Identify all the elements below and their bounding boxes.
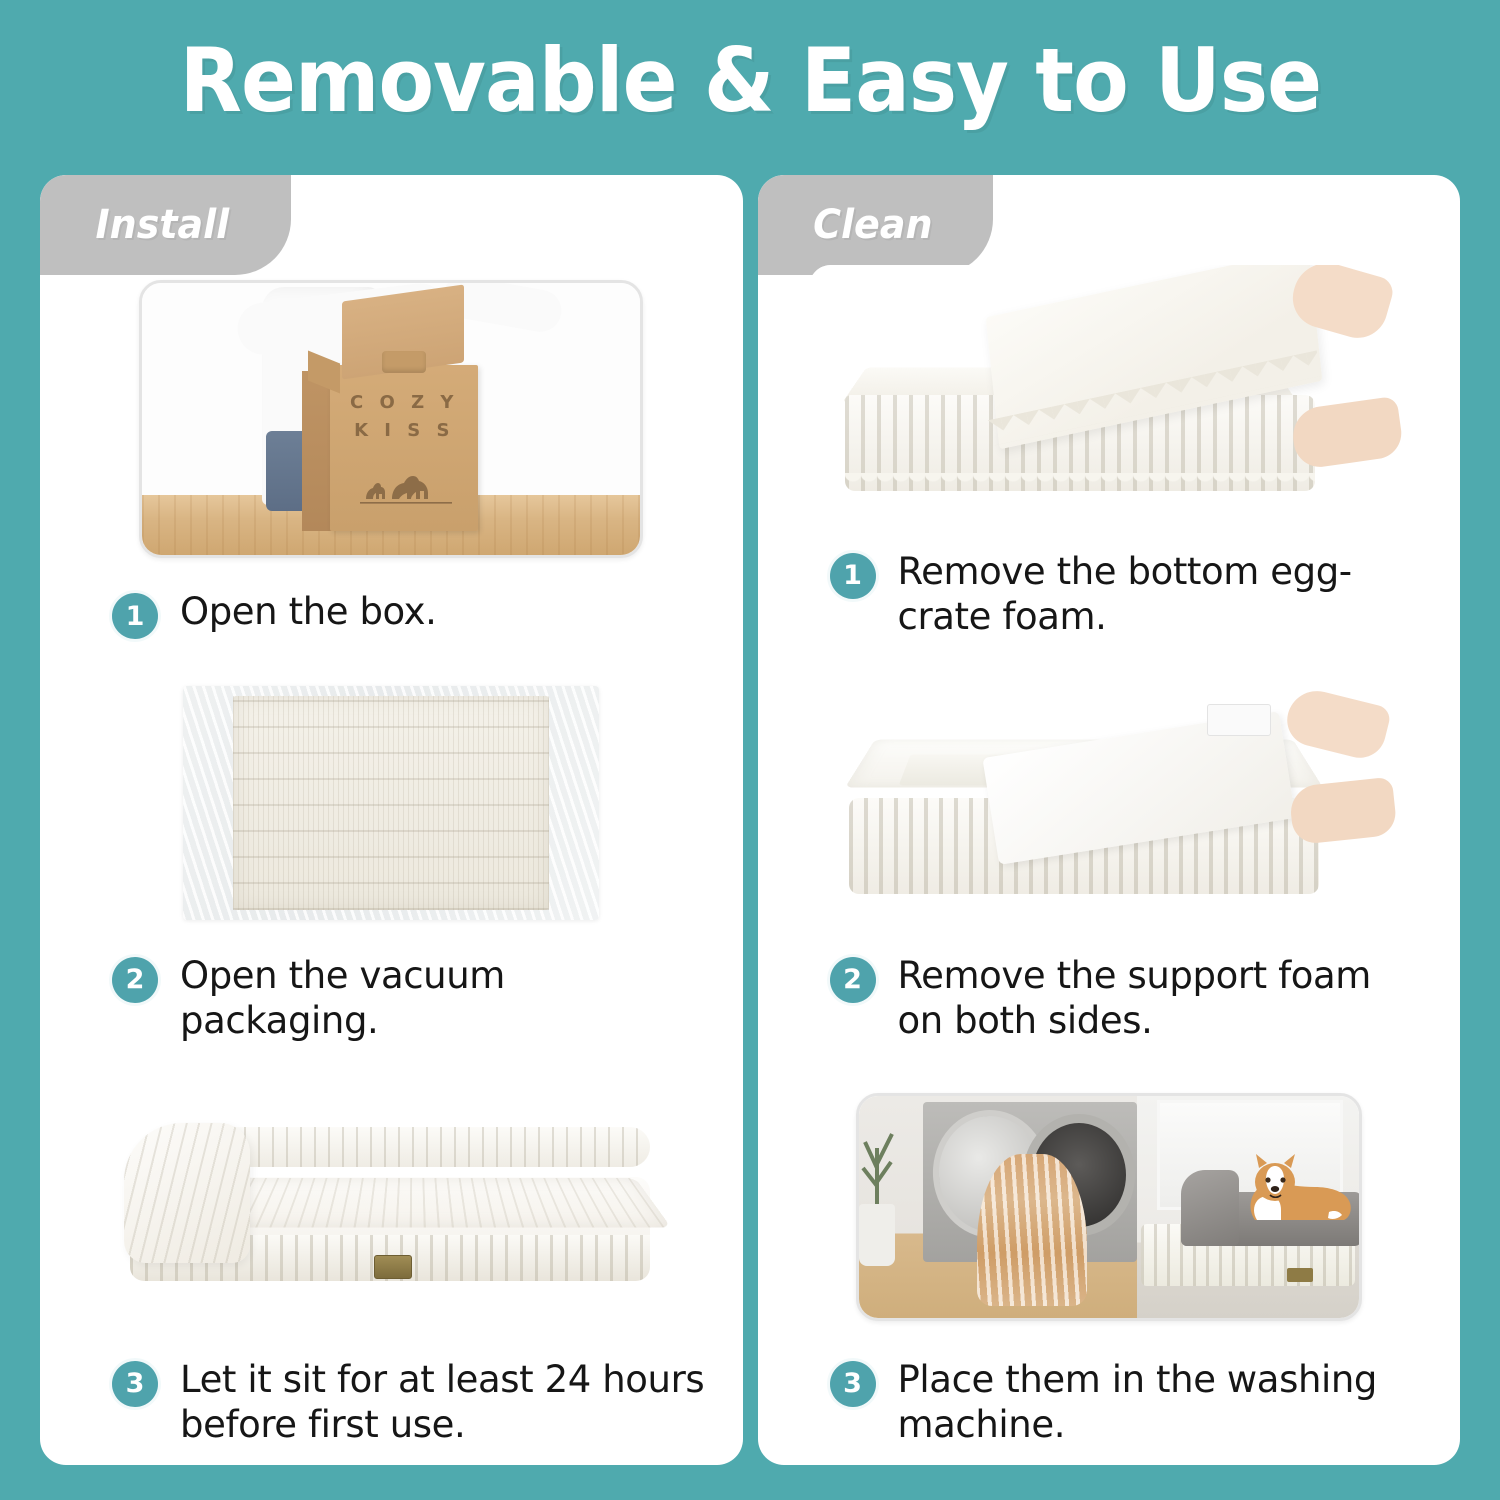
clean-step-2-caption: 2 Remove the support foam on both sides. (792, 945, 1427, 1061)
brand-tag (1287, 1268, 1313, 1282)
tab-clean-label: Clean (813, 202, 932, 248)
bed-bottom-bumps (845, 473, 1315, 493)
care-label (1207, 704, 1271, 736)
clean-step-3: 3 Place them in the washing machine. (758, 1061, 1461, 1465)
laundry-room-half (859, 1096, 1137, 1318)
scene-support-foam (809, 678, 1409, 928)
install-step-3-photo-wrap (74, 1061, 709, 1349)
step-text: Remove the bottom egg-crate foam. (898, 549, 1427, 639)
scene-dog-bed (110, 1105, 672, 1309)
plant-pot (859, 1204, 895, 1266)
install-step-2-caption: 2 Open the vacuum packaging. (74, 945, 709, 1061)
install-steps: C O Z Y K I S S 1 Open the (40, 253, 743, 1465)
clean-steps: 1 Remove the bottom egg-crate foam. (758, 253, 1461, 1465)
install-step-1-caption: 1 Open the box. (74, 581, 709, 657)
bed-side-bolster (124, 1123, 250, 1263)
clean-card: Clean (758, 175, 1461, 1465)
instruction-columns: Install (40, 175, 1460, 1465)
photo-egg-crate-foam (809, 265, 1409, 533)
photo-vacuum-packaging (171, 678, 611, 928)
install-card: Install (40, 175, 743, 1465)
install-step-2: 2 Open the vacuum packaging. (40, 657, 743, 1061)
brand-tag (374, 1255, 412, 1279)
step-text: Remove the support foam on both sides. (898, 953, 1427, 1043)
photo-open-the-box: C O Z Y K I S S (139, 280, 643, 558)
clean-step-3-photo-wrap (792, 1061, 1427, 1349)
clean-step-2: 2 Remove the support foam on both sides. (758, 657, 1461, 1061)
step-number-badge: 1 (112, 593, 158, 639)
install-step-3-caption: 3 Let it sit for at least 24 hours befor… (74, 1349, 709, 1465)
step-number-badge: 3 (830, 1361, 876, 1407)
scene-washing-machine (859, 1096, 1359, 1318)
step-number-badge: 2 (830, 957, 876, 1003)
clean-step-1-caption: 1 Remove the bottom egg-crate foam. (792, 541, 1427, 657)
step-text: Open the box. (180, 589, 437, 634)
install-step-2-photo-wrap (74, 657, 709, 945)
bed-cover-in-washer (977, 1154, 1087, 1306)
tab-install-label: Install (96, 202, 230, 248)
corgi-dog (1229, 1154, 1355, 1226)
header: Removable & Easy to Use (0, 0, 1500, 160)
step-number-badge: 2 (112, 957, 158, 1003)
scene-box-opening: C O Z Y K I S S (142, 283, 640, 555)
living-room-half (1137, 1096, 1359, 1318)
bed-back-rim (188, 1127, 650, 1167)
install-step-3: 3 Let it sit for at least 24 hours befor… (40, 1061, 743, 1465)
photo-washing-machine (856, 1093, 1362, 1321)
page-title: Removable & Easy to Use (179, 29, 1321, 132)
clean-step-1-photo-wrap (792, 253, 1427, 541)
photo-support-foam (809, 678, 1409, 928)
scene-vacuum-pack (171, 678, 611, 928)
clean-step-3-caption: 3 Place them in the washing machine. (792, 1349, 1427, 1465)
box-side-panel (302, 371, 332, 531)
box-brand-text: C O Z Y K I S S (330, 389, 478, 445)
brand-line-1: C O Z Y (330, 389, 478, 417)
step-text: Open the vacuum packaging. (180, 953, 709, 1043)
clean-step-2-photo-wrap (792, 657, 1427, 945)
brand-line-2: K I S S (330, 417, 478, 445)
compressed-foam (233, 696, 549, 910)
step-text: Let it sit for at least 24 hours before … (180, 1357, 709, 1447)
photo-expanded-dog-bed (110, 1105, 672, 1309)
scene-egg-crate (809, 265, 1409, 533)
box-handle (382, 351, 426, 373)
install-step-1: C O Z Y K I S S 1 Open the (40, 253, 743, 657)
step-number-badge: 3 (112, 1361, 158, 1407)
install-step-1-photo-wrap: C O Z Y K I S S (74, 253, 709, 581)
clean-step-1: 1 Remove the bottom egg-crate foam. (758, 253, 1461, 657)
step-text: Place them in the washing machine. (898, 1357, 1427, 1447)
step-number-badge: 1 (830, 553, 876, 599)
pets-silhouette-icon (358, 469, 454, 505)
